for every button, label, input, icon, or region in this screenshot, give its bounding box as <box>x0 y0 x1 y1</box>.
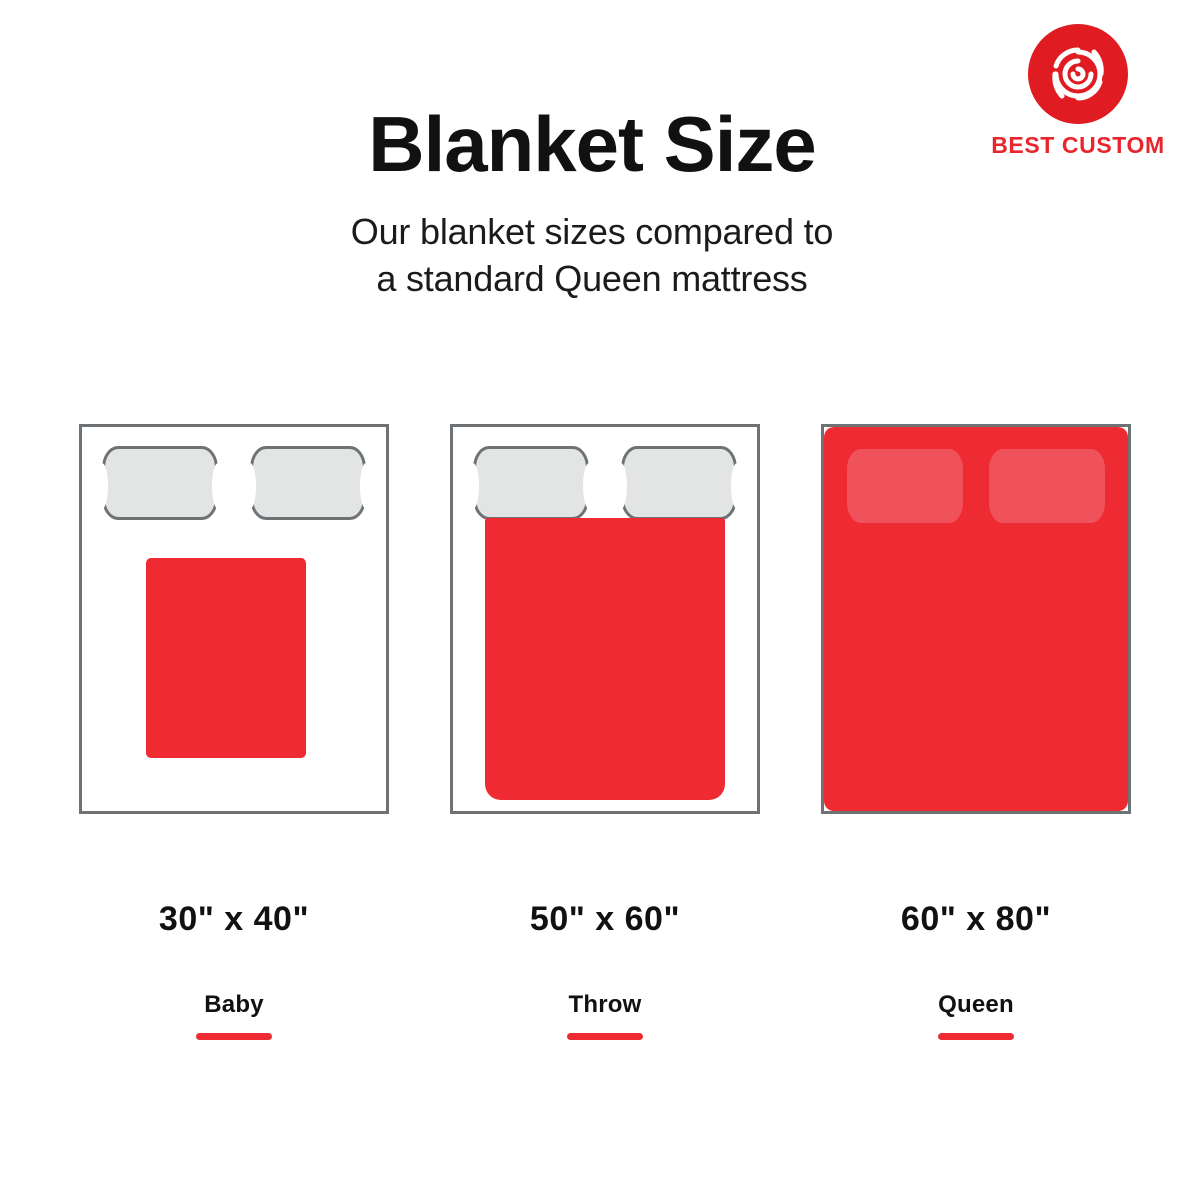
caption-queen: 60" x 80" Queen <box>821 900 1131 1040</box>
pillow-left <box>847 449 963 523</box>
blanket-throw <box>485 518 725 800</box>
blanket-baby <box>146 558 306 758</box>
blanket-dimensions: 50" x 60" <box>450 900 760 939</box>
pillow-right <box>989 449 1105 523</box>
caption-row: 30" x 40" Baby 50" x 60" Throw 60" x 80"… <box>0 900 1200 1060</box>
accent-rule <box>196 1033 272 1040</box>
bed-diagram-throw <box>450 424 760 814</box>
blanket-name: Queen <box>821 991 1131 1019</box>
accent-rule <box>938 1033 1014 1040</box>
pillow-left <box>102 446 218 520</box>
blanket-name: Baby <box>79 991 389 1019</box>
page-title: Blanket Size <box>0 104 1184 186</box>
subtitle-line-2: a standard Queen mattress <box>0 255 1184 303</box>
pillow-left <box>473 446 589 520</box>
blanket-name: Throw <box>450 991 760 1019</box>
pillow-right <box>250 446 366 520</box>
page-subtitle: Our blanket sizes compared to a standard… <box>0 208 1184 303</box>
blanket-queen <box>824 427 1128 811</box>
bed-diagram-baby <box>79 424 389 814</box>
pillow-right <box>621 446 737 520</box>
accent-rule <box>567 1033 643 1040</box>
bed-diagram-queen <box>821 424 1131 814</box>
caption-throw: 50" x 60" Throw <box>450 900 760 1040</box>
header: Blanket Size Our blanket sizes compared … <box>0 104 1200 303</box>
blanket-dimensions: 30" x 40" <box>79 900 389 939</box>
blanket-dimensions: 60" x 80" <box>821 900 1131 939</box>
subtitle-line-1: Our blanket sizes compared to <box>0 208 1184 256</box>
bed-comparison-row <box>0 424 1200 814</box>
caption-baby: 30" x 40" Baby <box>79 900 389 1040</box>
